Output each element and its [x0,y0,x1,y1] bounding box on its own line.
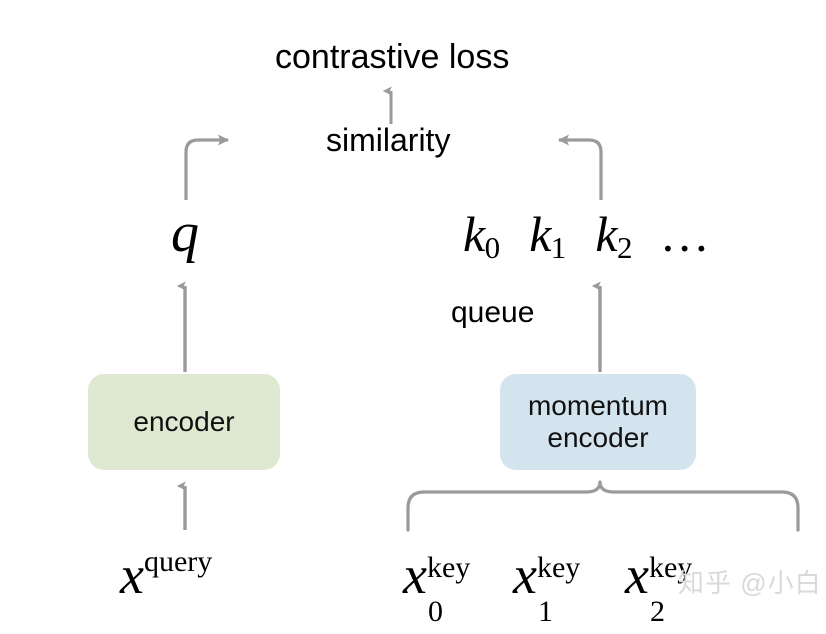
diagram-canvas: contrastive loss similarity queue q k0 k… [0,0,826,634]
key-vector-2: k2 [595,206,645,262]
key-vectors-group: k0 k1 k2 … [463,205,710,263]
momentum-encoder-box[interactable]: momentum encoder [500,374,696,470]
key-input-symbol-1: x key 1 [513,548,595,602]
connector-layer [0,0,826,634]
momentum-encoder-box-label-line2: encoder [547,422,648,454]
query-vector-symbol: q [171,205,199,261]
key-vector-0: k0 [463,206,513,262]
query-input-symbol: xquery [120,544,212,606]
momentum-encoder-box-label-line1: momentum [528,390,668,422]
arrow-q-to-similarity [186,140,228,200]
queue-label: queue [451,296,534,331]
key-vectors-ellipsis: … [660,206,710,262]
zhihu-watermark: 知乎 @小白 [678,563,822,600]
similarity-label: similarity [326,122,450,159]
arrow-keys-to-similarity [559,140,601,200]
key-input-symbol-0: x key 0 [403,548,485,602]
encoder-box[interactable]: encoder [88,374,280,470]
encoder-box-label: encoder [133,406,234,438]
contrastive-loss-label: contrastive loss [275,38,509,77]
key-inputs-brace [408,482,798,530]
key-vector-1: k1 [529,206,579,262]
